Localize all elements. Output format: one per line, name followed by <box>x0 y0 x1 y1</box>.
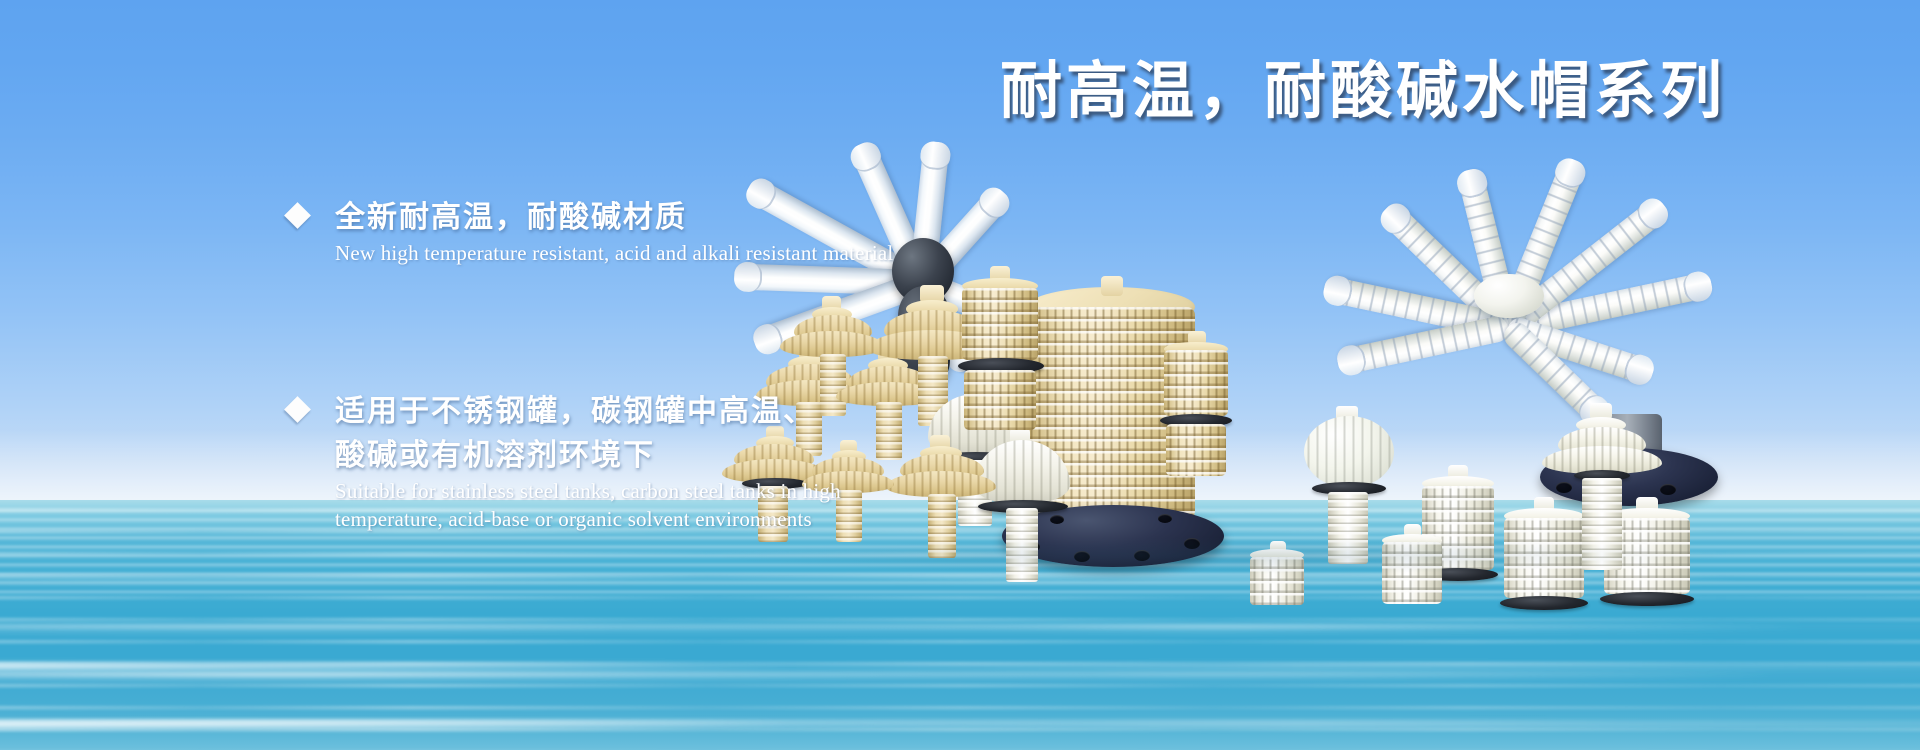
feature-1-cn-line-1: 全新耐高温，耐酸碱材质 <box>335 196 1090 240</box>
feature-list: 全新耐高温，耐酸碱材质 New high temperature resista… <box>230 196 1090 532</box>
feature-2-en-line-2: temperature, acid-base or organic solven… <box>335 507 1090 533</box>
feature-item-2: 适用于不锈钢罐，碳钢罐中高温、 酸碱或有机溶剂环境下 Suitable for … <box>230 390 1090 532</box>
feature-2-en-line-1: Suitable for stainless steel tanks, carb… <box>335 479 1090 505</box>
water-ripples-layer-4 <box>0 640 1920 750</box>
feature-1-en-line-1: New high temperature resistant, acid and… <box>335 241 1090 267</box>
feature-2-cn-line-1: 适用于不锈钢罐，碳钢罐中高温、 <box>335 390 1090 434</box>
product-banner: 耐高温，耐酸碱水帽系列 全新耐高温，耐酸碱材质 New high tempera… <box>0 0 1920 750</box>
page-title: 耐高温，耐酸碱水帽系列 <box>1000 58 1726 126</box>
base-shadow <box>720 538 1720 574</box>
feature-2-cn-line-2: 酸碱或有机溶剂环境下 <box>335 434 1090 478</box>
feature-item-1: 全新耐高温，耐酸碱材质 New high temperature resista… <box>230 196 1090 266</box>
